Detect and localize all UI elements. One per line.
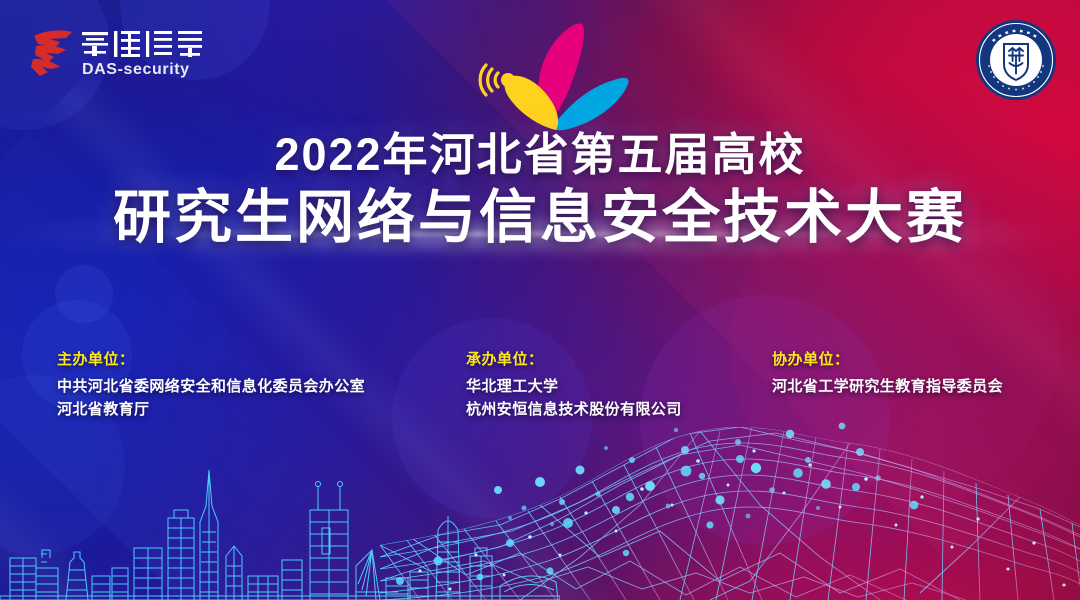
event-poster: DAS-security (0, 0, 1080, 600)
university-seal-icon (974, 18, 1058, 102)
organizer-label: 主办单位： (57, 348, 365, 369)
das-security-en-name: DAS-security (82, 61, 190, 78)
organizer-label: 承办单位： (466, 348, 682, 369)
organizer-name: 河北省教育厅 (57, 398, 365, 421)
organizer-block-host: 主办单位： 中共河北省委网络安全和信息化委员会办公室 河北省教育厅 (57, 348, 365, 422)
horizontal-light-streak-core (120, 232, 960, 236)
das-security-logo: DAS-security (26, 22, 211, 84)
organizer-name: 河北省工学研究生教育指导委员会 (772, 375, 1003, 398)
organizer-name: 杭州安恒信息技术股份有限公司 (466, 398, 682, 421)
emblem-signal-waves (480, 65, 498, 95)
organizer-label: 协办单位： (772, 348, 1003, 369)
butterfly-wifi-emblem-icon (460, 18, 630, 134)
organizer-block-undertaker: 承办单位： 华北理工大学 杭州安恒信息技术股份有限公司 (466, 348, 682, 422)
organizers-section: 主办单位： 中共河北省委网络安全和信息化委员会办公室 河北省教育厅 承办单位： … (0, 348, 1080, 448)
das-security-swoosh-icon (31, 30, 72, 76)
organizer-block-coorganizer: 协办单位： 河北省工学研究生教育指导委员会 (772, 348, 1003, 398)
bokeh-circle (55, 265, 113, 323)
organizer-name: 中共河北省委网络安全和信息化委员会办公室 (57, 375, 365, 398)
das-security-cn-name (82, 31, 202, 57)
organizer-name: 华北理工大学 (466, 375, 682, 398)
emblem-head (501, 73, 515, 87)
